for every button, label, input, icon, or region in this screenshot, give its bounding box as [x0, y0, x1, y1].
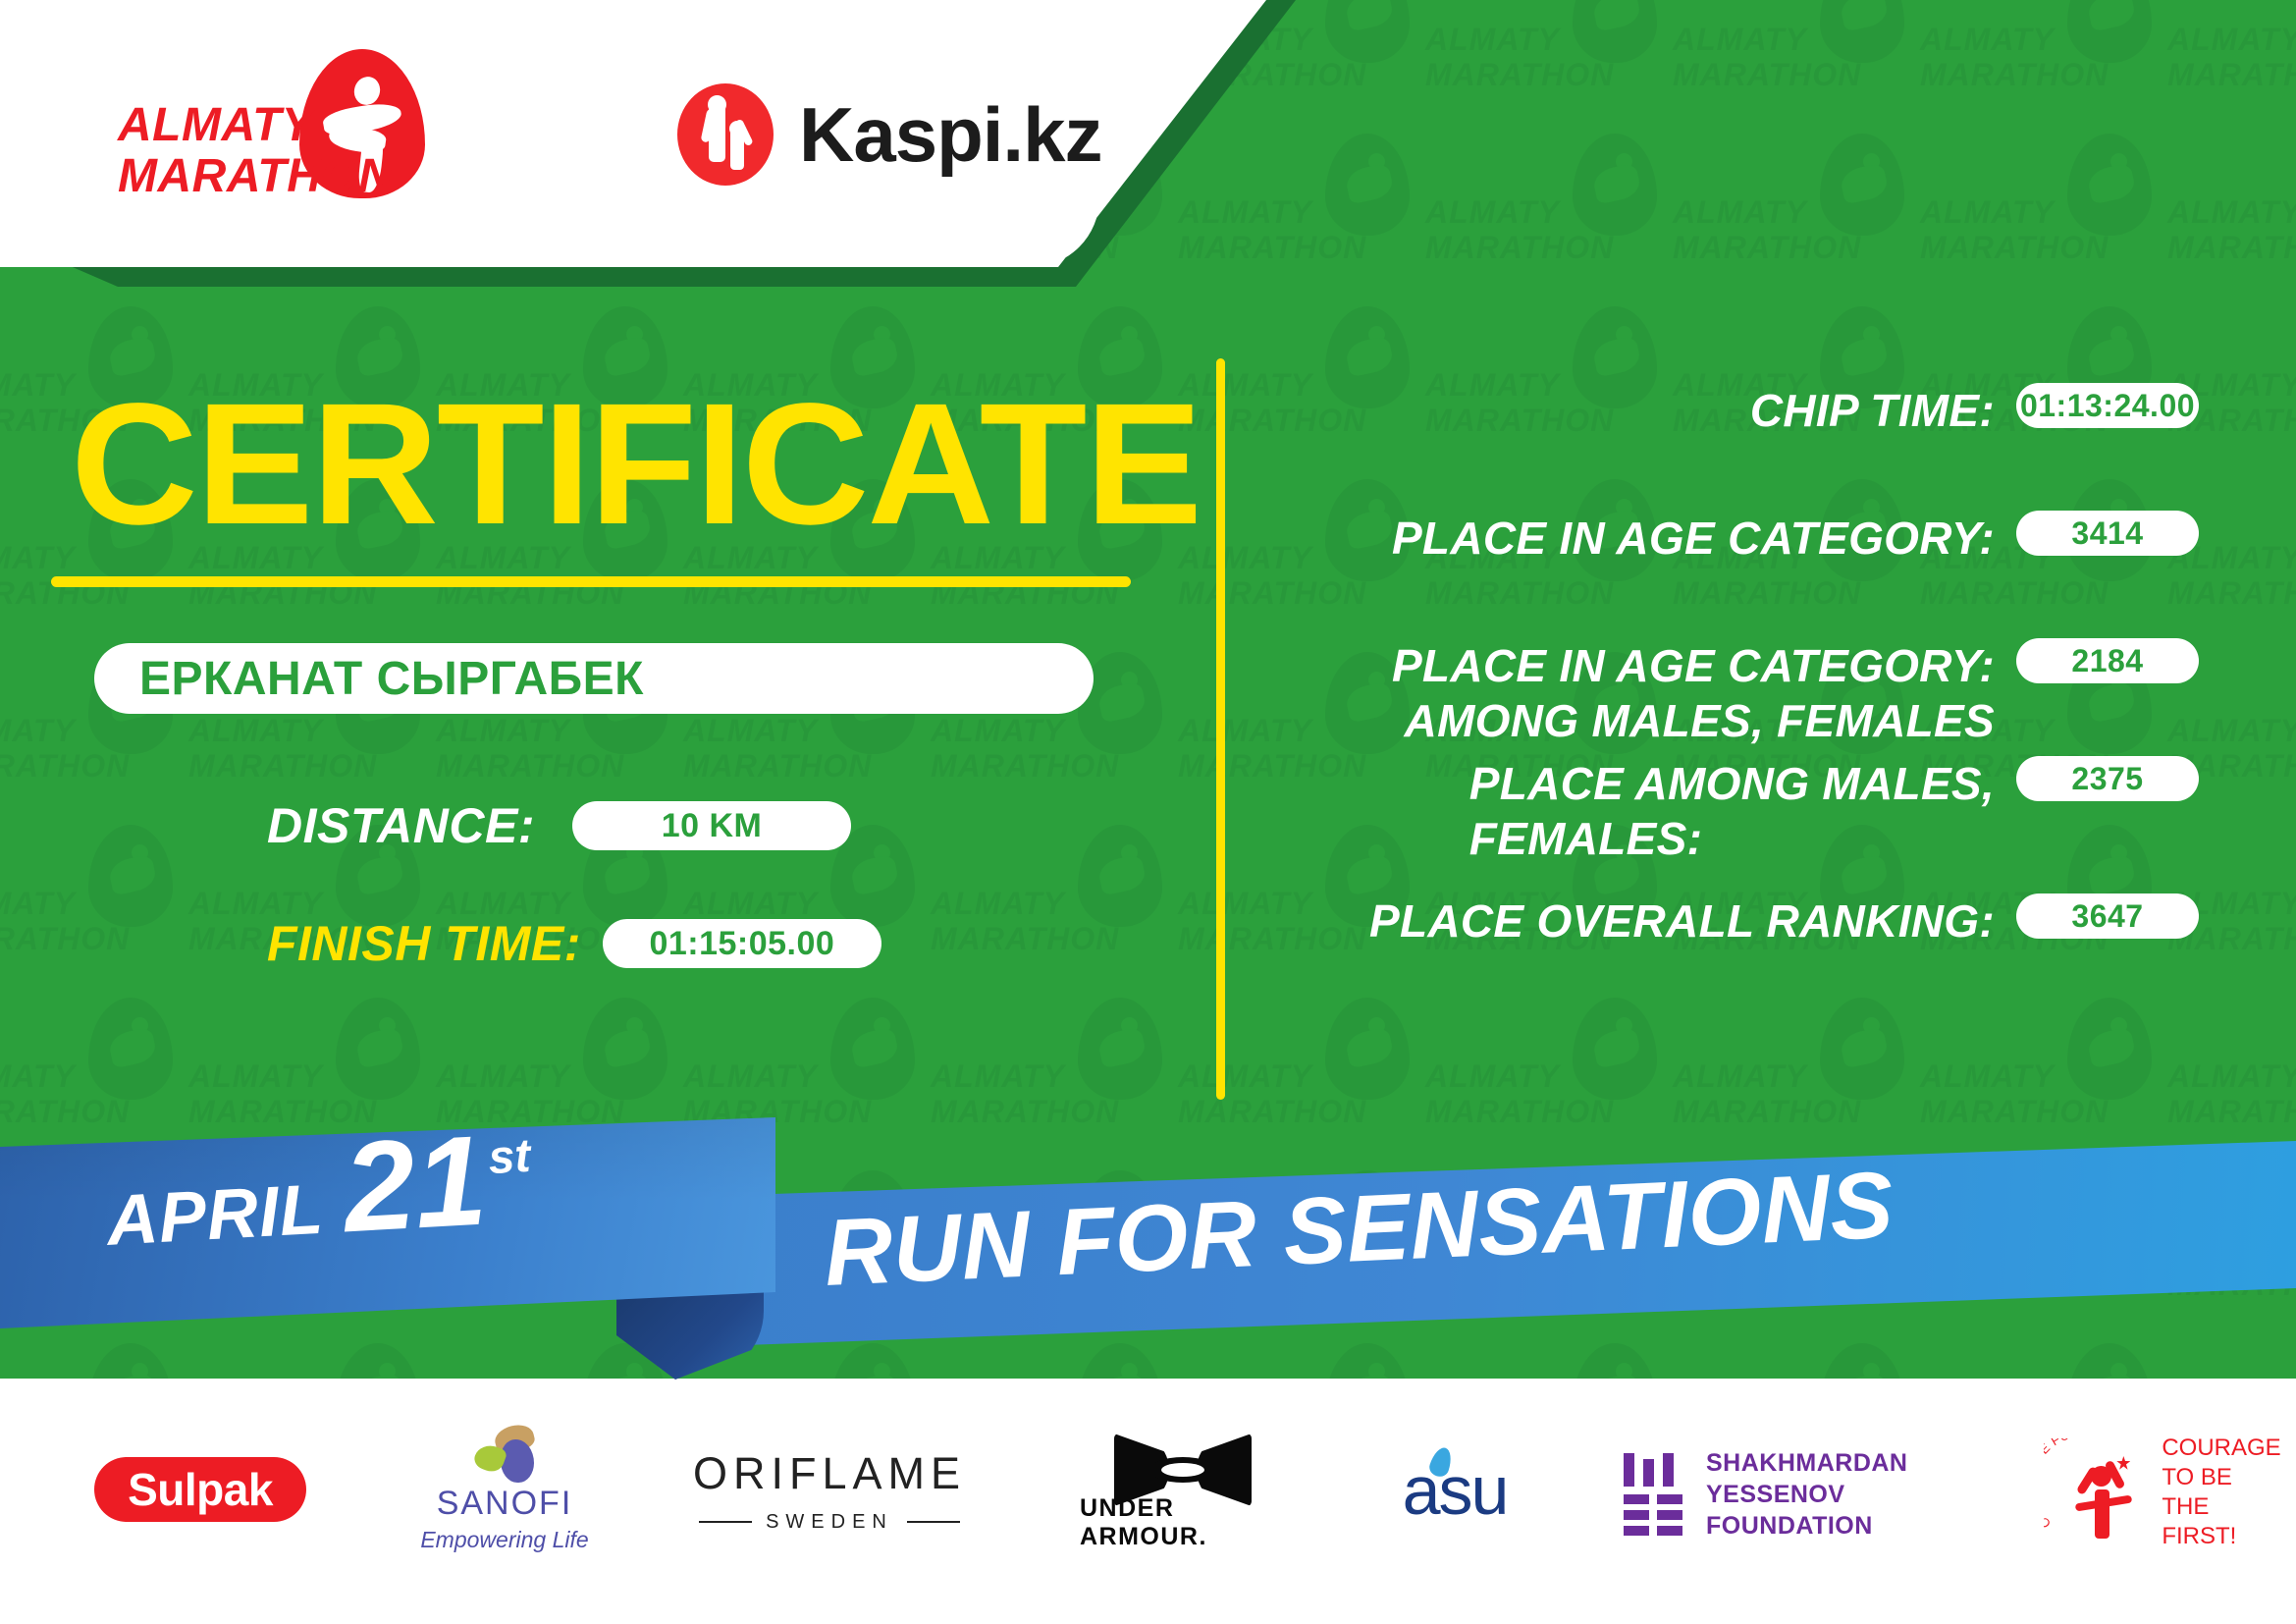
courage-line2: TO BE	[2162, 1463, 2280, 1492]
yessenov-bars-icon	[1624, 1453, 1684, 1536]
result-row: CHIP TIME:01:13:24.00	[1296, 383, 2199, 438]
watermark-line1: ALMATY	[1178, 886, 1312, 922]
watermark-line1: ALMATY	[188, 1058, 323, 1095]
watermark-line2: MARATHON	[188, 748, 377, 785]
watermark-line2: MARATHON	[1920, 575, 2109, 612]
watermark-drop-icon	[1325, 134, 1410, 236]
watermark-line1: ALMATY	[436, 713, 570, 749]
watermark-line1: ALMATY	[2167, 1058, 2296, 1095]
sponsor-courage-fund: CORPORATE FUND COURAGE TO BE THE FIRST!	[2050, 1430, 2275, 1555]
result-label: CHIP TIME:	[1750, 383, 1995, 438]
watermark-line2: MARATHON	[0, 921, 130, 957]
watermark-line1: ALMATY	[2167, 22, 2296, 58]
watermark-line1: ALMATY	[0, 367, 76, 404]
result-value: 2375	[2016, 756, 2199, 801]
sanofi-bird-icon	[467, 1426, 542, 1479]
watermark-line2: MARATHON	[683, 748, 872, 785]
watermark-line1: ALMATY	[1673, 22, 1807, 58]
watermark-line1: ALMATY	[0, 886, 76, 922]
watermark-line1: ALMATY	[931, 713, 1065, 749]
watermark-line2: MARATHON	[0, 748, 130, 785]
event-month: APRIL	[105, 1169, 326, 1262]
courage-runner-icon: CORPORATE FUND	[2044, 1438, 2152, 1546]
watermark-tile: ALMATYMARATHON	[0, 825, 187, 997]
watermark-line1: ALMATY	[683, 1058, 818, 1095]
watermark-line1: ALMATY	[1920, 1058, 2055, 1095]
watermark-drop-icon	[2067, 0, 2152, 63]
sulpak-wordmark: Sulpak	[128, 1463, 273, 1516]
watermark-drop-icon	[830, 998, 915, 1100]
watermark-line2: MARATHON	[1425, 230, 1614, 266]
watermark-tile: ALMATYMARATHON	[1425, 0, 1671, 133]
watermark-line1: ALMATY	[1673, 1058, 1807, 1095]
watermark-line2: MARATHON	[1673, 230, 1861, 266]
kaspi-wordmark: Kaspi.kz	[799, 90, 1101, 180]
result-row: PLACE OVERALL RANKING:3647	[1296, 893, 2199, 948]
sponsor-under-armour: UNDER ARMOUR.	[1080, 1434, 1286, 1551]
watermark-line2: MARATHON	[2167, 575, 2296, 612]
event-date: APRIL 21 st	[103, 1123, 535, 1262]
result-label: PLACE OVERALL RANKING:	[1369, 893, 1995, 948]
distance-label: DISTANCE:	[267, 797, 535, 854]
watermark-line2: MARATHON	[1920, 57, 2109, 93]
watermark-drop-icon	[1573, 998, 1657, 1100]
finish-time-label: FINISH TIME:	[267, 915, 581, 972]
watermark-tile: ALMATYMARATHON	[1425, 134, 1671, 305]
watermark-tile: ALMATYMARATHON	[931, 825, 1176, 997]
finish-time-value: 01:15:05.00	[603, 919, 881, 968]
courage-line1: COURAGE	[2162, 1434, 2280, 1463]
watermark-drop-icon	[583, 998, 667, 1100]
watermark-line1: ALMATY	[1425, 22, 1560, 58]
page-title: CERTIFICATE	[71, 378, 1201, 551]
under-armour-icon	[1114, 1434, 1252, 1483]
watermark-line1: ALMATY	[1178, 713, 1312, 749]
watermark-line1: ALMATY	[1178, 1058, 1312, 1095]
almaty-marathon-wordmark: ALMATY MARATHON	[118, 100, 393, 202]
event-day: 21	[341, 1125, 489, 1241]
watermark-line1: ALMATY	[0, 540, 76, 576]
watermark-line1: ALMATY	[2167, 194, 2296, 231]
kaspi-logo: Kaspi.kz	[677, 81, 1101, 189]
watermark-tile: ALMATYMARATHON	[2167, 134, 2296, 305]
watermark-drop-icon	[1078, 998, 1162, 1100]
result-value: 2184	[2016, 638, 2199, 683]
ribbon-fold	[616, 1286, 764, 1380]
participant-name: ЕРКАНАТ СЫРГАБЕК	[139, 652, 644, 706]
distance-value: 10 KM	[572, 801, 851, 850]
watermark-line1: ALMATY	[1920, 194, 2055, 231]
almaty-logo-line2: MARATHON	[118, 151, 393, 202]
watermark-drop-icon	[1820, 0, 1904, 63]
watermark-line1: ALMATY	[1425, 194, 1560, 231]
courage-slogan: COURAGE TO BE THE FIRST!	[2162, 1434, 2280, 1551]
result-label: PLACE AMONG MALES,FEMALES:	[1469, 756, 1995, 866]
watermark-drop-icon	[1325, 0, 1410, 63]
result-label: PLACE IN AGE CATEGORY:	[1392, 511, 1995, 566]
watermark-line1: ALMATY	[1673, 194, 1807, 231]
watermark-line1: ALMATY	[683, 713, 818, 749]
watermark-drop-icon	[1573, 0, 1657, 63]
result-row: PLACE AMONG MALES,FEMALES:2375	[1296, 756, 2199, 866]
yessenov-line2: FOUNDATION	[1706, 1510, 2036, 1542]
watermark-line2: MARATHON	[436, 748, 624, 785]
kaspi-people-icon	[677, 83, 774, 186]
event-day-suffix: st	[487, 1129, 532, 1185]
almaty-marathon-logo: ALMATY MARATHON	[118, 49, 442, 196]
watermark-line2: MARATHON	[1673, 57, 1861, 93]
watermark-tile: ALMATYMARATHON	[1920, 0, 2165, 133]
watermark-drop-icon	[2067, 134, 2152, 236]
almaty-logo-line1: ALMATY	[118, 100, 393, 151]
watermark-drop-icon	[1078, 825, 1162, 927]
watermark-line2: MARATHON	[1920, 230, 2109, 266]
result-label: PLACE IN AGE CATEGORY:AMONG MALES, FEMAL…	[1392, 638, 1995, 748]
watermark-line2: MARATHON	[2167, 230, 2296, 266]
sanofi-wordmark: SANOFI	[437, 1485, 573, 1523]
oriflame-subline: SWEDEN	[687, 1511, 972, 1534]
result-value: 3647	[2016, 893, 2199, 939]
watermark-line2: MARATHON	[1178, 230, 1366, 266]
oriflame-country: SWEDEN	[766, 1511, 893, 1534]
watermark-line1: ALMATY	[1920, 22, 2055, 58]
watermark-tile: ALMATYMARATHON	[2167, 0, 2296, 133]
watermark-line2: MARATHON	[1178, 575, 1366, 612]
finish-time-row: FINISH TIME: 01:15:05.00	[267, 915, 881, 972]
watermark-line1: ALMATY	[0, 713, 76, 749]
watermark-drop-icon	[88, 825, 173, 927]
oriflame-wordmark: ORIFLAME	[693, 1448, 966, 1499]
watermark-line2: MARATHON	[2167, 57, 2296, 93]
sponsor-oriflame: ORIFLAME SWEDEN	[687, 1443, 972, 1538]
under-armour-wordmark: UNDER ARMOUR.	[1080, 1494, 1286, 1551]
watermark-line2: MARATHON	[1425, 57, 1614, 93]
watermark-tile: ALMATYMARATHON	[1673, 134, 1918, 305]
watermark-line1: ALMATY	[931, 1058, 1065, 1095]
sanofi-tagline: Empowering Life	[420, 1527, 588, 1553]
result-value: 3414	[2016, 511, 2199, 556]
watermark-drop-icon	[1820, 998, 1904, 1100]
title-underline	[51, 576, 1131, 587]
watermark-drop-icon	[336, 998, 420, 1100]
sponsor-sulpak: Sulpak	[94, 1457, 306, 1522]
watermark-tile: ALMATYMARATHON	[1673, 0, 1918, 133]
courage-line3: THE FIRST!	[2162, 1492, 2280, 1551]
certificate-page: ALMATYMARATHONALMATYMARATHONALMATYMARATH…	[0, 0, 2296, 1624]
yessenov-line1: SHAKHMARDAN YESSENOV	[1706, 1447, 2036, 1510]
result-value: 01:13:24.00	[2016, 383, 2199, 428]
yessenov-wordmark: SHAKHMARDAN YESSENOV FOUNDATION	[1706, 1447, 2036, 1542]
watermark-line2: MARATHON	[1425, 575, 1614, 612]
sponsor-sanofi: SANOFI Empowering Life	[397, 1426, 613, 1553]
result-row: PLACE IN AGE CATEGORY:3414	[1296, 511, 2199, 566]
watermark-line1: ALMATY	[1425, 1058, 1560, 1095]
watermark-line1: ALMATY	[1178, 194, 1312, 231]
watermark-line1: ALMATY	[436, 1058, 570, 1095]
result-row: PLACE IN AGE CATEGORY:AMONG MALES, FEMAL…	[1296, 638, 2199, 748]
watermark-line2: MARATHON	[931, 921, 1119, 957]
participant-name-field: ЕРКАНАТ СЫРГАБЕК	[94, 643, 1094, 714]
column-divider	[1216, 358, 1225, 1100]
asu-wordmark: asu	[1403, 1451, 1508, 1530]
watermark-drop-icon	[1820, 134, 1904, 236]
watermark-drop-icon	[88, 998, 173, 1100]
distance-row: DISTANCE: 10 KM	[267, 797, 851, 854]
watermark-drop-icon	[2067, 998, 2152, 1100]
watermark-line2: MARATHON	[931, 748, 1119, 785]
watermark-line1: ALMATY	[931, 886, 1065, 922]
watermark-tile: ALMATYMARATHON	[1920, 134, 2165, 305]
watermark-drop-icon	[1573, 134, 1657, 236]
sponsor-yessenov-foundation: SHAKHMARDAN YESSENOV FOUNDATION	[1624, 1443, 2036, 1545]
watermark-line2: MARATHON	[1673, 575, 1861, 612]
watermark-line1: ALMATY	[0, 1058, 76, 1095]
watermark-line1: ALMATY	[188, 713, 323, 749]
watermark-tile: ALMATYMARATHON	[1178, 134, 1423, 305]
sponsor-asu: asu	[1366, 1451, 1543, 1530]
watermark-drop-icon	[1325, 998, 1410, 1100]
